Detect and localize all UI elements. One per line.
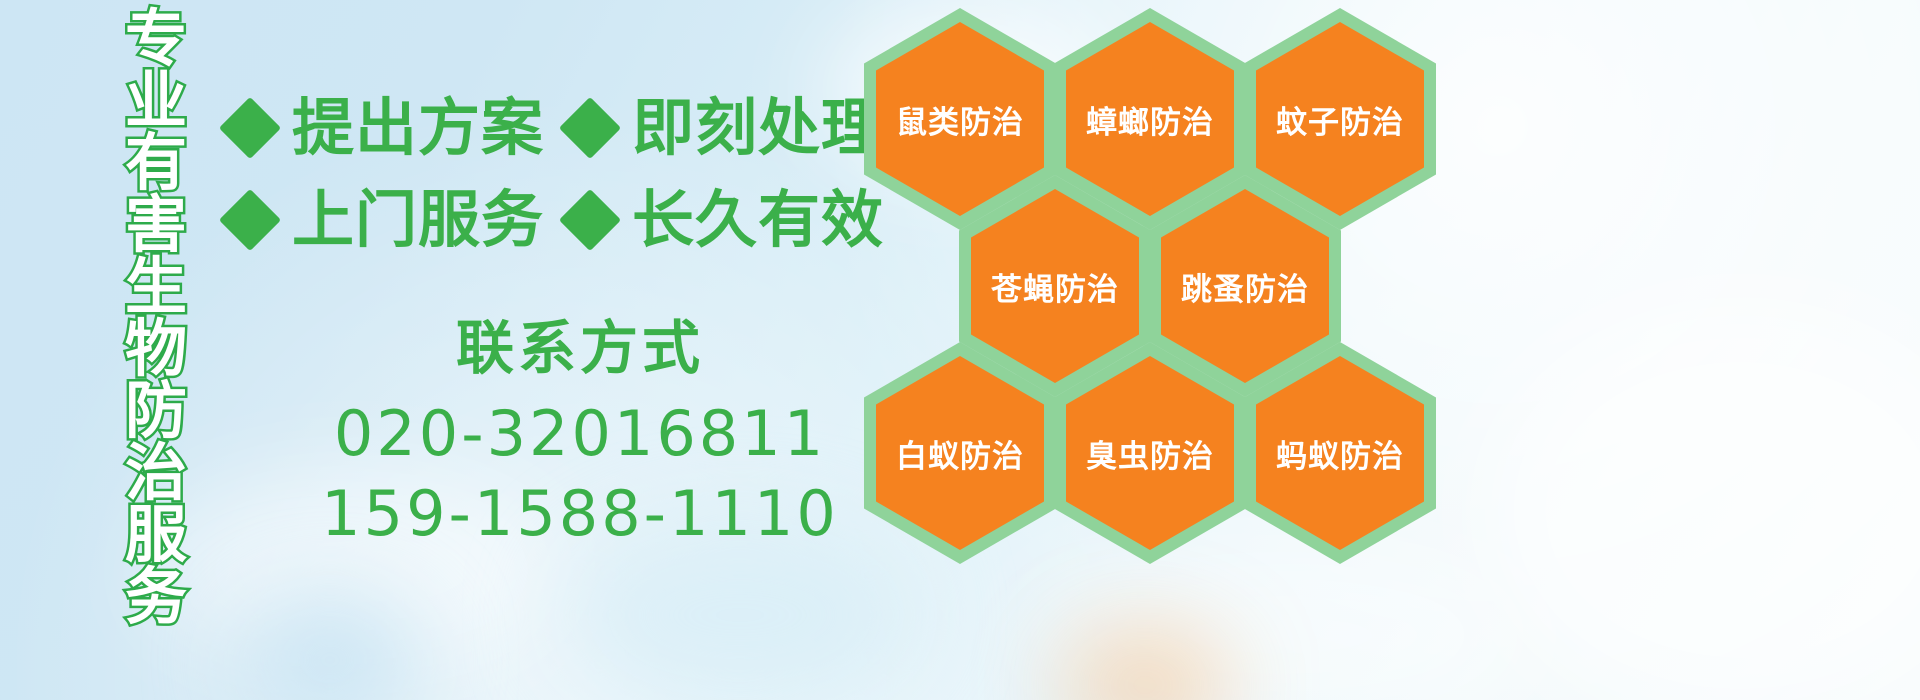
feature-row: 上门服务 长久有效 xyxy=(228,174,868,266)
phone-number-primary[interactable]: 020-32016811 xyxy=(260,396,900,472)
vertical-headline-char: 治 xyxy=(125,442,187,504)
service-hex-bedbug[interactable]: 臭虫防治 xyxy=(1054,342,1246,564)
diamond-icon xyxy=(219,189,281,251)
feature-label: 长久有效 xyxy=(632,189,884,251)
contact-block: 联系方式 020-32016811 159-1588-1110 xyxy=(260,310,900,552)
vertical-headline-char: 防 xyxy=(125,380,187,442)
pest-control-banner: 专 业 有 害 生 物 防 治 服 务 提出方案 即刻处理 上门服务 xyxy=(0,0,1920,700)
service-honeycomb: 鼠类防治 蟑螂防治 蚊子防治 苍蝇防治 跳蚤防治 白蚁防治 xyxy=(856,0,1456,580)
contact-heading: 联系方式 xyxy=(260,310,900,386)
service-hex-label: 臭虫防治 xyxy=(1054,342,1246,564)
feature-item: 上门服务 xyxy=(228,189,568,251)
service-hex-label: 白蚁防治 xyxy=(864,342,1056,564)
phone-number-secondary[interactable]: 159-1588-1110 xyxy=(260,476,900,552)
vertical-headline-char: 害 xyxy=(125,194,187,256)
vertical-headline-char: 业 xyxy=(125,70,187,132)
diamond-icon xyxy=(219,97,281,159)
vertical-headline-char: 有 xyxy=(125,132,187,194)
diamond-icon xyxy=(559,97,621,159)
vertical-headline-char: 生 xyxy=(125,256,187,318)
service-hex-termite[interactable]: 白蚁防治 xyxy=(864,342,1056,564)
feature-item: 提出方案 xyxy=(228,97,568,159)
vertical-headline-char: 服 xyxy=(125,504,187,566)
feature-label: 上门服务 xyxy=(292,189,544,251)
background-blur-blob xyxy=(1060,630,1230,700)
vertical-headline-char: 专 xyxy=(125,8,187,70)
service-hex-ant[interactable]: 蚂蚁防治 xyxy=(1244,342,1436,564)
background-blur-blob xyxy=(240,600,420,700)
vertical-headline: 专 业 有 害 生 物 防 治 服 务 xyxy=(104,8,208,568)
vertical-headline-char: 务 xyxy=(125,566,187,628)
background-blur-blob xyxy=(1480,300,1920,700)
feature-label: 即刻处理 xyxy=(632,97,884,159)
vertical-headline-char: 物 xyxy=(125,318,187,380)
feature-list: 提出方案 即刻处理 上门服务 长久有效 xyxy=(228,82,868,266)
feature-row: 提出方案 即刻处理 xyxy=(228,82,868,174)
diamond-icon xyxy=(559,189,621,251)
feature-label: 提出方案 xyxy=(292,97,544,159)
service-hex-label: 蚂蚁防治 xyxy=(1244,342,1436,564)
